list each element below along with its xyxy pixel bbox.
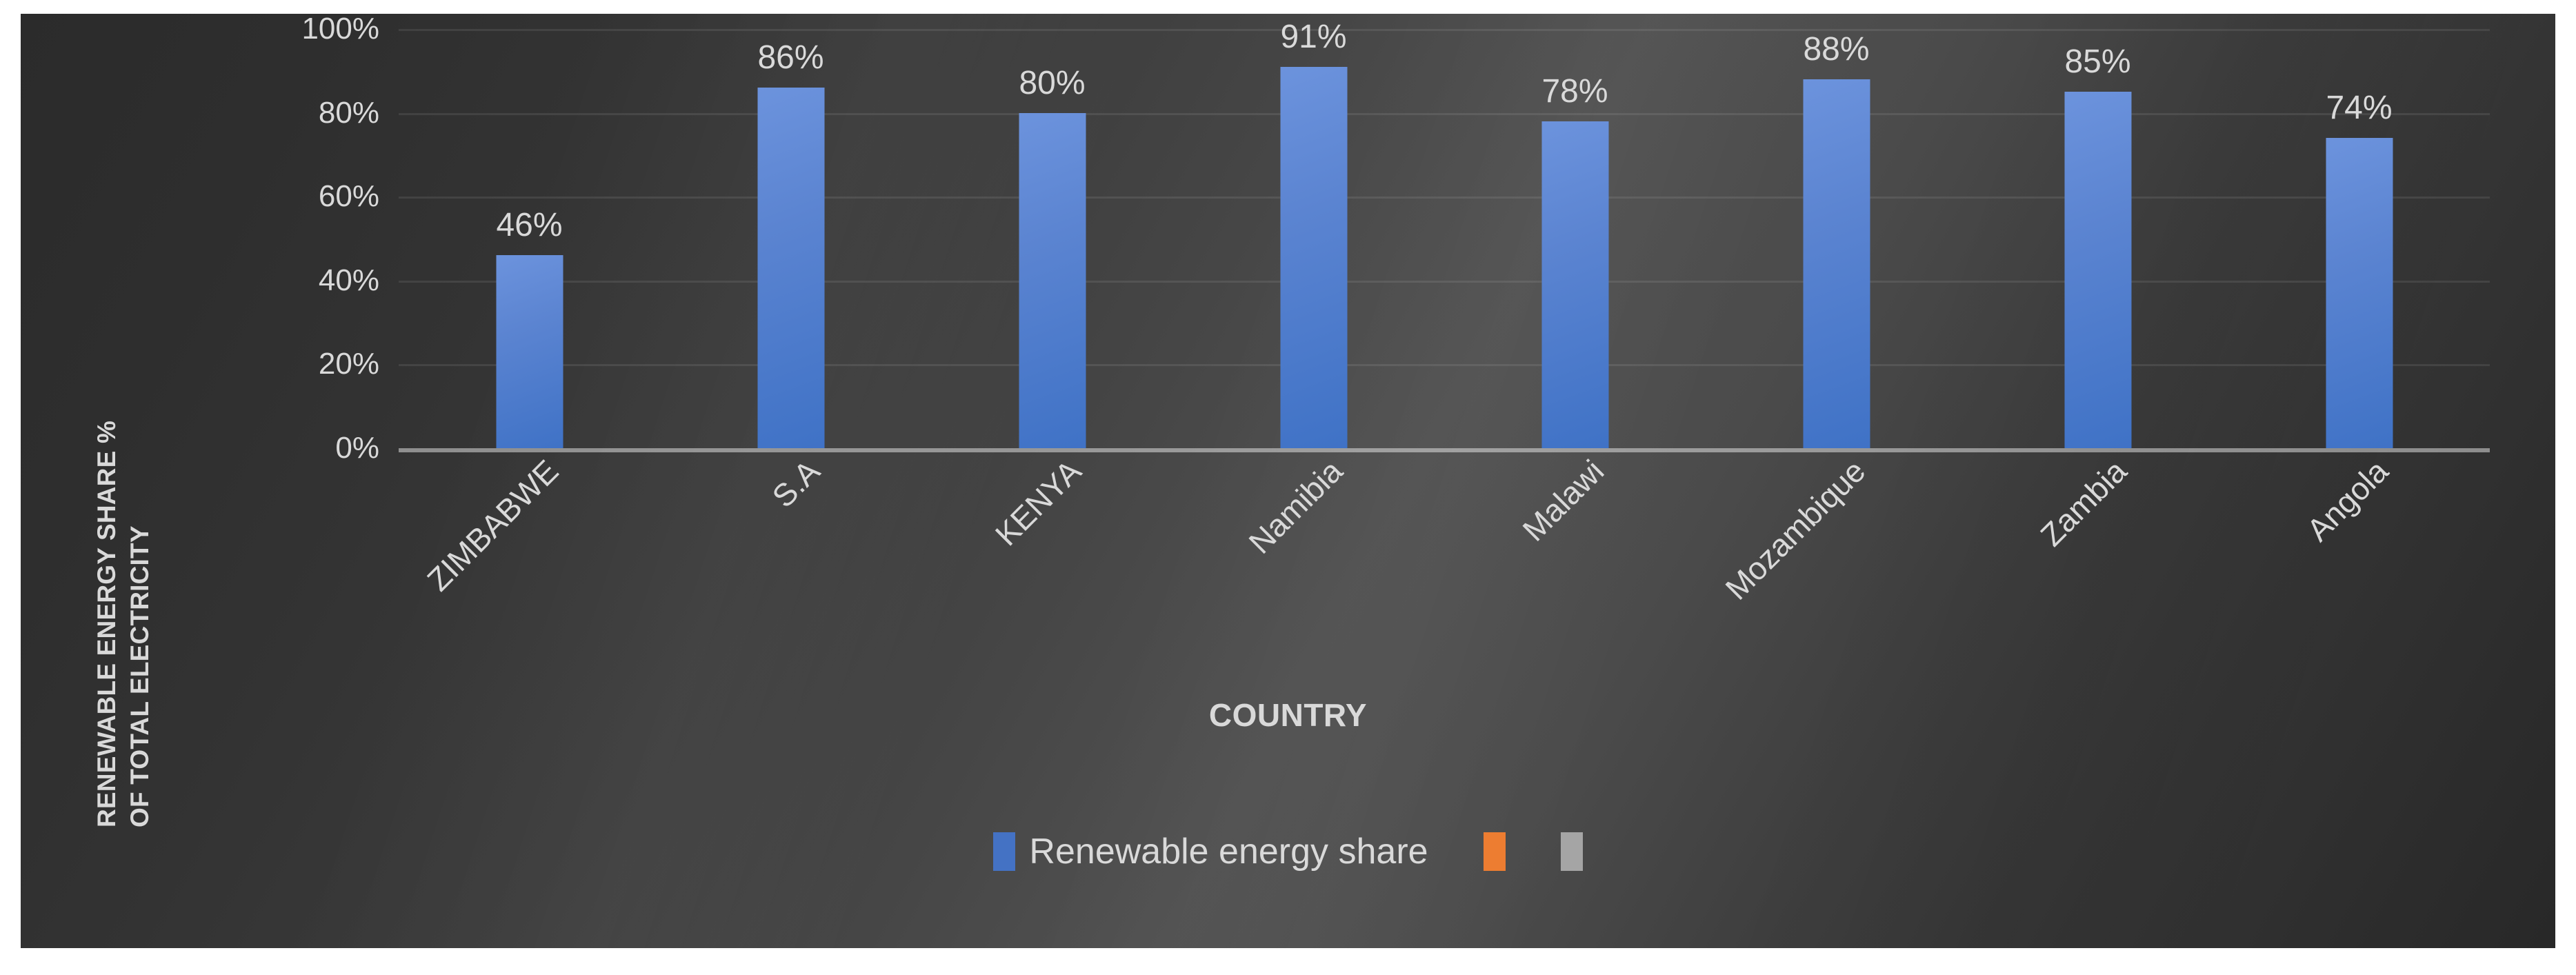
bar-data-label: 88% [1803, 30, 1869, 68]
y-axis-tick-label: 20% [241, 347, 379, 381]
bar-slot: 74% [2228, 29, 2490, 448]
y-axis-tick-label: 60% [241, 179, 379, 214]
legend-spacer [1506, 852, 1561, 852]
bar[interactable] [2064, 92, 2131, 448]
bar-data-label: 86% [757, 39, 823, 77]
legend-swatch-icon [993, 832, 1015, 871]
x-axis-category-labels: ZIMBABWES.AKENYANamibiaMalawiMozambiqueZ… [399, 452, 2490, 680]
y-axis-tick-label: 80% [241, 96, 379, 130]
legend-swatch-icon [1484, 832, 1506, 871]
bar-slot: 80% [921, 29, 1183, 448]
x-axis-category-label: Mozambique [1717, 452, 1872, 607]
legend-label: Renewable energy share [1029, 831, 1428, 872]
bar[interactable] [1803, 79, 1870, 448]
legend-item[interactable]: Renewable energy share [993, 831, 1428, 872]
y-axis-tick-label: 100% [241, 14, 379, 46]
bar-slot: 86% [660, 29, 921, 448]
y-axis-tick-label: 40% [241, 263, 379, 298]
bar-slot: 78% [1444, 29, 1706, 448]
bar[interactable] [757, 88, 824, 448]
bar[interactable] [2326, 138, 2393, 448]
bar-series: 46%86%80%91%78%88%85%74% [399, 29, 2490, 448]
bar-slot: 88% [1706, 29, 1967, 448]
x-axis-category-label: Namibia [1241, 452, 1349, 561]
bar-data-label: 80% [1019, 64, 1085, 102]
plot-area: 46%86%80%91%78%88%85%74% [399, 29, 2490, 448]
chart-legend: Renewable energy share [21, 831, 2555, 872]
x-axis-category-label: Zambia [2033, 452, 2134, 554]
bar-data-label: 74% [2326, 89, 2392, 127]
chart-canvas: RENEWABLE ENERGY SHARE % OF TOTAL ELECTR… [21, 14, 2555, 948]
chart-page: RENEWABLE ENERGY SHARE % OF TOTAL ELECTR… [0, 0, 2576, 975]
bar[interactable] [1019, 113, 1086, 448]
y-axis-title-line1: RENEWABLE ENERGY SHARE % [92, 421, 121, 827]
x-axis-category-label: S.A [764, 452, 827, 515]
legend-swatch-icon [1561, 832, 1583, 871]
y-axis-title-line2: OF TOTAL ELECTRICITY [126, 525, 154, 827]
bar-slot: 85% [1967, 29, 2228, 448]
legend-item[interactable] [1484, 832, 1506, 871]
y-axis-tick-labels: 100%80%60%40%20%0% [241, 29, 379, 448]
x-axis-category-label: ZIMBABWE [419, 452, 566, 599]
bar-data-label: 46% [496, 206, 562, 244]
x-axis-title: COUNTRY [21, 696, 2555, 734]
bar-slot: 46% [399, 29, 660, 448]
bar-data-label: 78% [1541, 72, 1608, 110]
legend-item[interactable] [1561, 832, 1583, 871]
x-axis-category-label: KENYA [988, 452, 1088, 553]
x-axis-category-label: Malawi [1515, 452, 1610, 548]
bar-data-label: 85% [2064, 43, 2130, 81]
bar[interactable] [1280, 67, 1347, 448]
bar-slot: 91% [1183, 29, 1444, 448]
bar[interactable] [1541, 121, 1608, 448]
bar[interactable] [496, 255, 563, 448]
legend-spacer [1428, 852, 1484, 852]
bar-data-label: 91% [1280, 18, 1346, 56]
x-axis-category-label: Angola [2299, 452, 2395, 548]
y-axis-tick-label: 0% [241, 431, 379, 465]
